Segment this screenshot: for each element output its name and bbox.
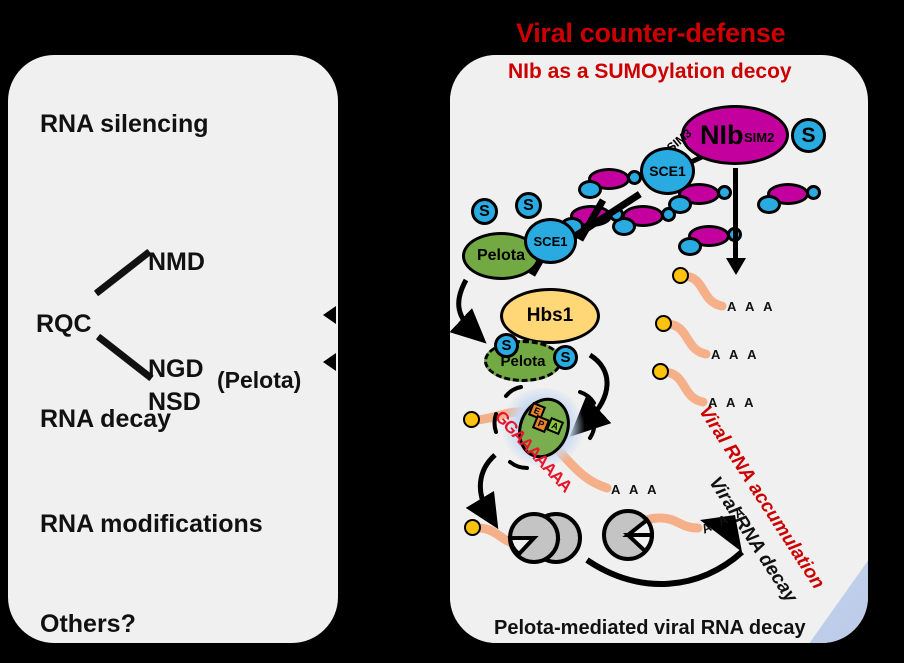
panel-subtitle: NIb as a SUMOylation decoy — [508, 60, 792, 84]
poly-a-label: A A A — [727, 299, 775, 314]
sumo-s-on-pelota-right[interactable]: S — [553, 345, 578, 370]
label-ngd: NGD — [148, 355, 204, 384]
label-rqc: RQC — [36, 310, 92, 339]
poly-a-label: A A A — [711, 347, 759, 362]
label-others: Others? — [40, 610, 136, 639]
label-rna-modifications: RNA modifications — [40, 510, 263, 539]
rna-cap — [464, 519, 481, 536]
sumo-cyan-dot — [717, 185, 732, 200]
label-nmd: NMD — [148, 248, 205, 277]
sumo-cyan-body — [578, 180, 602, 199]
protein-sce1-mid[interactable]: SCE1 — [524, 218, 577, 264]
label-rna-silencing: RNA silencing — [40, 110, 209, 139]
protein-nib[interactable]: NIb SIM2 — [681, 105, 789, 165]
sumo-s-free-1[interactable]: S — [471, 198, 498, 225]
arrow-down-shaft — [733, 168, 738, 263]
connector-arrowhead-bottom — [323, 353, 336, 371]
branch-connector-ngd-nsd — [96, 334, 154, 381]
host-defense-panel: RNA silencing RQC NMD NGD NSD (Pelota) R… — [8, 55, 338, 643]
sumo-cyan-dot — [806, 185, 821, 200]
rna-cap — [672, 267, 689, 284]
poly-a-label: A A A — [611, 482, 659, 497]
protein-sce1-top[interactable]: SCE1 — [640, 147, 695, 195]
sumo-cyan-body — [757, 195, 781, 214]
rna-cap — [652, 363, 669, 380]
poly-a-label: A A A — [708, 395, 756, 410]
sumo-s-free-2[interactable]: S — [515, 192, 542, 219]
panel-bottom-caption: Pelota-mediated viral RNA decay — [494, 617, 806, 640]
nib-label: NIb — [700, 120, 744, 151]
sumo-s-on-pelota-left[interactable]: S — [494, 333, 519, 358]
page-title: Viral counter-defense — [516, 18, 785, 49]
label-rna-decay: RNA decay — [40, 405, 171, 434]
rna-cap — [655, 315, 672, 332]
figure-root: RNA silencing RQC NMD NGD NSD (Pelota) R… — [0, 0, 904, 663]
sumo-s-attached-nib[interactable]: S — [791, 118, 826, 153]
nib-sim2-label: SIM2 — [744, 130, 774, 145]
arrow-down-head — [726, 258, 746, 275]
sumo-cyan-body — [678, 237, 702, 256]
connector-arrowhead-top — [323, 306, 336, 324]
branch-connector-nmd — [94, 249, 152, 296]
label-pelota-annotation: (Pelota) — [217, 367, 301, 394]
rna-cap — [463, 411, 480, 428]
sumo-cyan-body — [668, 195, 692, 214]
